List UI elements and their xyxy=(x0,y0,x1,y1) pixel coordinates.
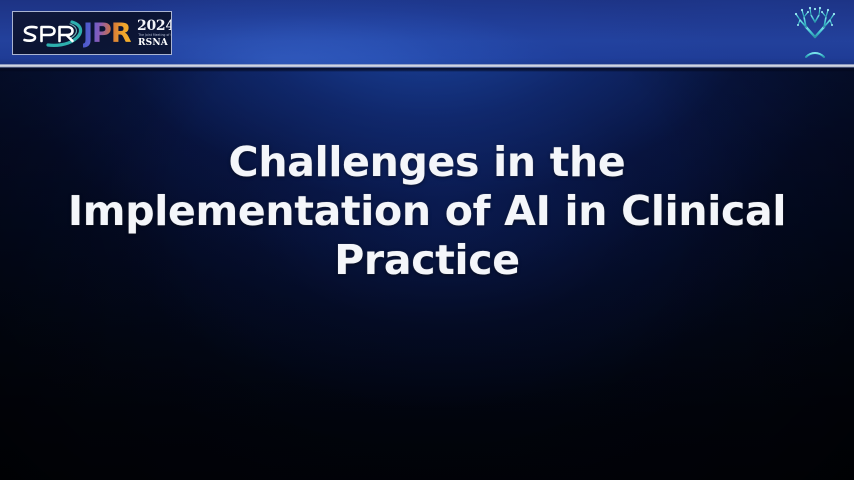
rsna-label: RSNA xyxy=(137,38,169,48)
conference-year-subtitle: The Joint Meeting of SPR & RSNA xyxy=(138,33,167,38)
conference-year-block: 2024 The Joint Meeting of SPR & RSNA RSN… xyxy=(137,19,169,48)
jpr-logo-text: JPR xyxy=(83,18,135,50)
presentation-slide: JPR 2024 The Joint Meeting of SPR & RSNA… xyxy=(0,0,854,480)
tree-emblem-icon xyxy=(788,3,842,63)
slide-title-line-2: Implementation of AI in Clinical xyxy=(60,187,794,236)
conference-year: 2024 xyxy=(137,19,169,33)
header-divider-shadow xyxy=(0,68,854,72)
spr-logo-icon xyxy=(20,20,88,48)
slide-title-line-3: Practice xyxy=(60,236,794,285)
conference-logo-inner: JPR 2024 The Joint Meeting of SPR & RSNA… xyxy=(13,12,171,54)
conference-logo-lockup: JPR 2024 The Joint Meeting of SPR & RSNA… xyxy=(12,11,172,55)
jpr-logo-wordmark: JPR xyxy=(83,18,135,50)
slide-title: Challenges in the Implementation of AI i… xyxy=(0,138,854,285)
slide-title-line-1: Challenges in the xyxy=(60,138,794,187)
